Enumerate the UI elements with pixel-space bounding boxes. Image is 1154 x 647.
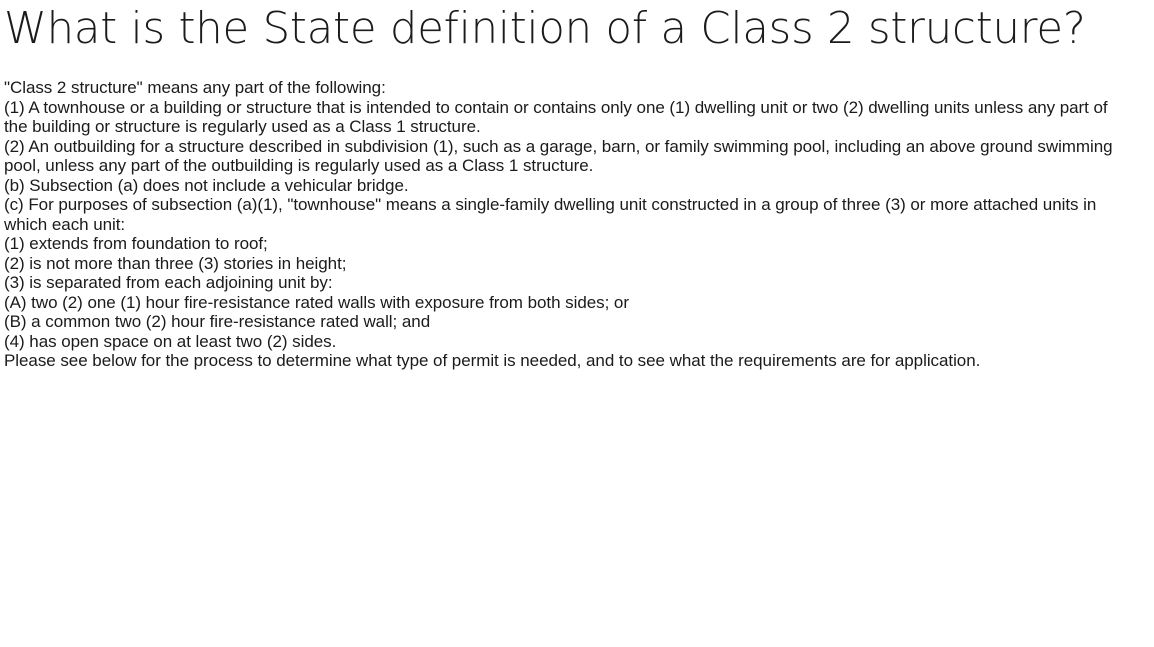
paragraph-lead-in: "Class 2 structure" means any part of th… [4,78,1150,98]
paragraph-townhouse-item-3-a: (A) two (2) one (1) hour fire-resistance… [4,293,1150,313]
paragraph-townhouse-item-4: (4) has open space on at least two (2) s… [4,332,1150,352]
document-body: "Class 2 structure" means any part of th… [4,78,1150,371]
paragraph-townhouse-item-1: (1) extends from foundation to roof; [4,234,1150,254]
page-root: What is the State definition of a Class … [0,0,1154,647]
paragraph-subdivision-2: (2) An outbuilding for a structure descr… [4,137,1149,176]
paragraph-subsection-c: (c) For purposes of subsection (a)(1), "… [4,195,1144,234]
paragraph-townhouse-item-2: (2) is not more than three (3) stories i… [4,254,1150,274]
paragraph-subdivision-1: (1) A townhouse or a building or structu… [4,98,1116,137]
paragraph-subsection-b: (b) Subsection (a) does not include a ve… [4,176,1150,196]
paragraph-closing-note: Please see below for the process to dete… [4,351,1114,371]
paragraph-townhouse-item-3: (3) is separated from each adjoining uni… [4,273,1150,293]
paragraph-townhouse-item-3-b: (B) a common two (2) hour fire-resistanc… [4,312,1150,332]
page-title: What is the State definition of a Class … [4,0,1133,57]
